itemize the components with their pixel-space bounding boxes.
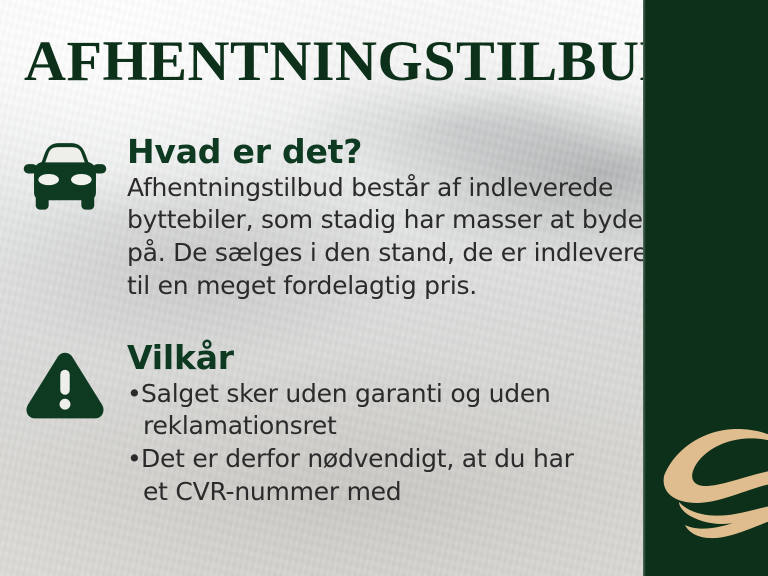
- section-terms-body: Vilkår Salget sker uden garanti og uden …: [127, 340, 645, 509]
- list-item: Salget sker uden garanti og uden reklama…: [127, 378, 645, 444]
- bullet-line: et CVR-nummer med: [141, 476, 645, 509]
- paragraph-line: på. De sælges i den stand, de er indleve…: [127, 237, 645, 270]
- paragraph-line: byttebiler, som stadig har masser at byd…: [127, 204, 645, 237]
- section-paragraph: Afhentningstilbud består af indleverede …: [127, 172, 645, 303]
- content-column: AFHENTNINGSTILBUD: [0, 0, 645, 576]
- list-item: Det er derfor nødvendigt, at du har et C…: [127, 443, 645, 509]
- brand-panel: [643, 0, 768, 576]
- warning-triangle-icon: [22, 350, 108, 424]
- promo-slide: AFHENTNINGSTILBUD: [0, 0, 768, 576]
- paragraph-line: Afhentningstilbud består af indleverede: [127, 172, 645, 205]
- bullet-line: reklamationsret: [141, 410, 645, 443]
- section-what-is-it-body: Hvad er det? Afhentningstilbud består af…: [127, 134, 645, 303]
- section-heading: Hvad er det?: [127, 134, 645, 170]
- section-heading: Vilkår: [127, 340, 645, 376]
- bullet-line: Salget sker uden garanti og uden: [141, 378, 645, 411]
- bullet-line: Det er derfor nødvendigt, at du har: [141, 443, 645, 476]
- terms-bullet-list: Salget sker uden garanti og uden reklama…: [127, 378, 645, 509]
- swoosh-s-logo: [661, 418, 768, 558]
- car-front-icon: [22, 140, 108, 214]
- paragraph-line: til en meget fordelagtig pris.: [127, 270, 645, 303]
- panel-edge-highlight: [643, 0, 646, 576]
- page-title: AFHENTNINGSTILBUD: [24, 33, 682, 90]
